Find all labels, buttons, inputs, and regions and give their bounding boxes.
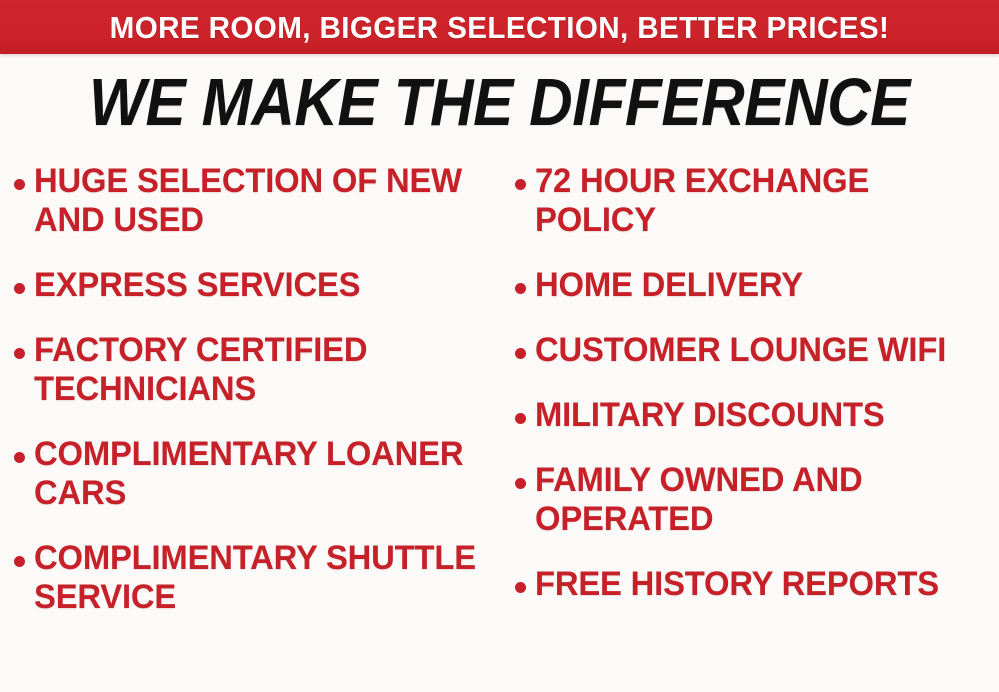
bullet-dot-icon — [515, 348, 526, 359]
bullet-dot-icon — [515, 179, 526, 190]
top-red-strip: MORE ROOM, BIGGER SELECTION, BETTER PRIC… — [0, 0, 999, 54]
list-item-label: HOME DELIVERY — [535, 266, 983, 305]
list-item: EXPRESS SERVICES — [14, 266, 501, 305]
list-item: FREE HISTORY REPORTS — [515, 565, 999, 604]
list-item: FACTORY CERTIFIED TECHNICIANS — [14, 331, 501, 409]
list-item-label: FAMILY OWNED AND OPERATED — [535, 461, 983, 539]
list-item-label: COMPLIMENTARY LOANER CARS — [34, 435, 485, 513]
list-item: HOME DELIVERY — [515, 266, 999, 305]
bullet-dot-icon — [515, 478, 526, 489]
benefits-column-left: HUGE SELECTION OF NEW AND USED EXPRESS S… — [14, 162, 501, 643]
page-title: WE MAKE THE DIFFERENCE — [50, 66, 949, 140]
list-item: COMPLIMENTARY LOANER CARS — [14, 435, 501, 513]
list-item-label: FREE HISTORY REPORTS — [535, 565, 983, 604]
list-item-label: CUSTOMER LOUNGE WIFI — [535, 331, 983, 370]
list-item: MILITARY DISCOUNTS — [515, 396, 999, 435]
promo-strip-text: MORE ROOM, BIGGER SELECTION, BETTER PRIC… — [22, 0, 976, 54]
promotional-banner: MORE ROOM, BIGGER SELECTION, BETTER PRIC… — [0, 0, 999, 692]
bullet-dot-icon — [14, 179, 25, 190]
bullet-dot-icon — [14, 556, 25, 567]
list-item-label: HUGE SELECTION OF NEW AND USED — [34, 162, 485, 240]
list-item: FAMILY OWNED AND OPERATED — [515, 461, 999, 539]
benefits-columns: HUGE SELECTION OF NEW AND USED EXPRESS S… — [0, 162, 999, 692]
list-item-label: COMPLIMENTARY SHUTTLE SERVICE — [34, 539, 485, 617]
list-item: COMPLIMENTARY SHUTTLE SERVICE — [14, 539, 501, 617]
bullet-dot-icon — [515, 283, 526, 294]
list-item-label: MILITARY DISCOUNTS — [535, 396, 983, 435]
list-item-label: FACTORY CERTIFIED TECHNICIANS — [34, 331, 485, 409]
list-item-label: EXPRESS SERVICES — [34, 266, 485, 305]
list-item: CUSTOMER LOUNGE WIFI — [515, 331, 999, 370]
list-item: 72 HOUR EXCHANGE POLICY — [515, 162, 999, 240]
bullet-dot-icon — [14, 283, 25, 294]
bullet-dot-icon — [14, 348, 25, 359]
bullet-dot-icon — [14, 452, 25, 463]
list-item-label: 72 HOUR EXCHANGE POLICY — [535, 162, 983, 240]
bullet-dot-icon — [515, 413, 526, 424]
bullet-dot-icon — [515, 582, 526, 593]
benefits-column-right: 72 HOUR EXCHANGE POLICY HOME DELIVERY CU… — [515, 162, 999, 630]
list-item: HUGE SELECTION OF NEW AND USED — [14, 162, 501, 240]
